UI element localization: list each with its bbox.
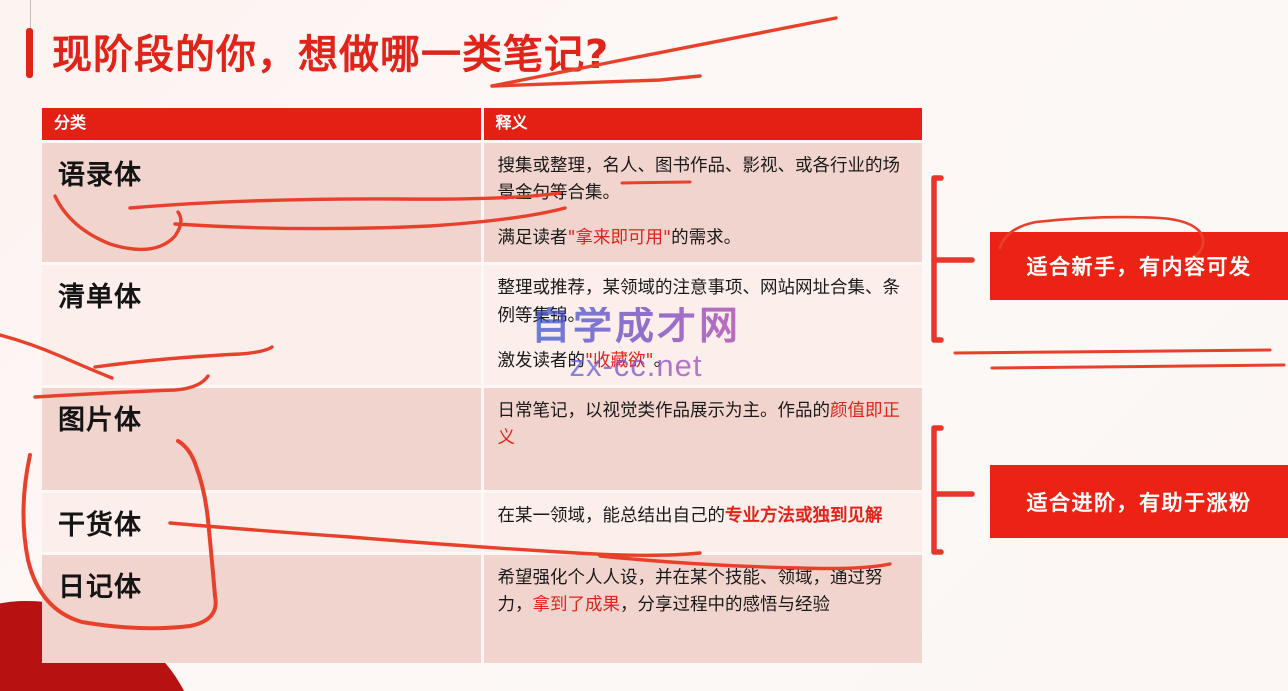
table-header-category: 分类 (42, 108, 482, 140)
definition-line-gap (498, 330, 909, 348)
note-type-table: 分类 释义 语录体 搜集或整理，名人、图书作品、影视、或各行业的场景金句等合集。… (42, 108, 922, 663)
annotation-brace-group1 (934, 178, 941, 340)
page-title: 现阶段的你，想做哪一类笔记? (52, 22, 609, 80)
definition-line-text: 在某一领域，能总结出自己的 (498, 506, 726, 526)
row-category: 日记体 (42, 555, 482, 663)
definition-line-text: 整理或推荐，某领域的注意事项、网站网址合集、条例等集锦。 (498, 278, 901, 325)
table-body: 语录体 搜集或整理，名人、图书作品、影视、或各行业的场景金句等合集。 满足读者"… (42, 140, 922, 663)
definition-line-text: 满足读者 (498, 228, 568, 248)
row-definition: 希望强化个人人设，并在某个技能、领域，通过努力，拿到了成果，分享过程中的感悟与经… (482, 555, 922, 663)
annotation-brace-group2 (934, 428, 941, 552)
table-header-row: 分类 释义 (42, 108, 922, 140)
row-category: 干货体 (42, 493, 482, 552)
row-definition: 在某一领域，能总结出自己的专业方法或独到见解 (482, 493, 922, 552)
annotation-underline-callout1-a (955, 350, 1270, 353)
row-definition: 整理或推荐，某领域的注意事项、网站网址合集、条例等集锦。 激发读者的"收藏欲"。 (482, 265, 922, 384)
definition-highlight: 拿到了成果 (533, 595, 621, 615)
table-row: 日记体 希望强化个人人设，并在某个技能、领域，通过努力，拿到了成果，分享过程中的… (42, 555, 922, 663)
row-category: 语录体 (42, 143, 482, 262)
definition-line-text: 激发读者的 (498, 351, 586, 371)
table-header-definition: 释义 (482, 108, 922, 140)
definition-line-text: 日常笔记，以视觉类作品展示为主。作品的 (498, 401, 831, 421)
definition-line-gap (498, 207, 909, 225)
definition-highlight: 专业方法或独到见解 (725, 506, 883, 526)
row-definition: 搜集或整理，名人、图书作品、影视、或各行业的场景金句等合集。 满足读者"拿来即可… (482, 143, 922, 262)
slide-canvas: 现阶段的你，想做哪一类笔记? 分类 释义 语录体 搜集或整理，名人、图书作品、影… (0, 0, 1288, 691)
definition-highlight: "收藏欲" (585, 351, 654, 371)
definition-highlight: "拿来即可用" (568, 228, 672, 248)
definition-line-text: 。 (654, 351, 672, 371)
title-accent-bar (26, 28, 33, 78)
table-row: 语录体 搜集或整理，名人、图书作品、影视、或各行业的场景金句等合集。 满足读者"… (42, 143, 922, 262)
table-row: 图片体 日常笔记，以视觉类作品展示为主。作品的颜值即正义 (42, 388, 922, 490)
table-row: 清单体 整理或推荐，某领域的注意事项、网站网址合集、条例等集锦。 激发读者的"收… (42, 265, 922, 384)
callout-label: 适合进阶，有助于涨粉 (1027, 487, 1252, 517)
annotation-underline-callout1-b (992, 365, 1284, 368)
row-category: 图片体 (42, 388, 482, 490)
definition-line-text: ，分享过程中的感悟与经验 (620, 595, 830, 615)
row-category: 清单体 (42, 265, 482, 384)
table-row: 干货体 在某一领域，能总结出自己的专业方法或独到见解 (42, 493, 922, 552)
definition-line-text: 的需求。 (671, 228, 741, 248)
callout-label: 适合新手，有内容可发 (1027, 251, 1252, 281)
table-head: 分类 释义 (42, 108, 922, 140)
callout-box-advanced: 适合进阶，有助于涨粉 (990, 465, 1288, 538)
callout-box-beginner: 适合新手，有内容可发 (990, 232, 1288, 300)
definition-line-text: 搜集或整理，名人、图书作品、影视、或各行业的场景金句等合集。 (498, 156, 901, 203)
row-definition: 日常笔记，以视觉类作品展示为主。作品的颜值即正义 (482, 388, 922, 490)
